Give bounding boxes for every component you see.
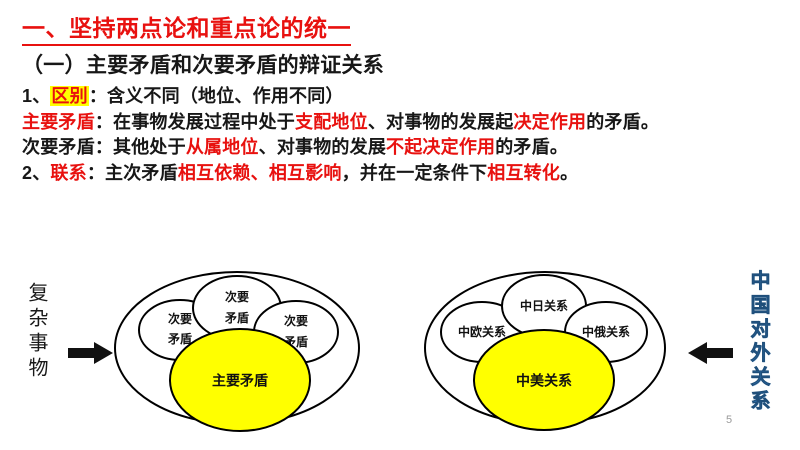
minor-ellipse-left-label-line1: 次要 (168, 311, 192, 326)
emphasis-mutual-dependence: 相互依赖、相互影响 (178, 163, 342, 183)
right-arrow-icon (68, 340, 114, 371)
minor-ellipse-top-label-line2: 矛盾 (224, 310, 249, 325)
line-4-seg-b: ，并在一定条件下 (342, 163, 488, 183)
list-number-1: 1、 (22, 86, 50, 106)
emphasis-subordinate-position: 从属地位 (186, 137, 259, 157)
body-line-1: 1、区别：含义不同（地位、作用不同） (22, 84, 792, 110)
minor-ellipse-china-russia-label: 中俄关系 (582, 324, 630, 339)
term-secondary-contradiction: 次要矛盾 (22, 137, 95, 157)
line-3-seg-a: ：其他处于 (95, 137, 186, 157)
list-number-2: 2、 (22, 163, 50, 183)
line-2-seg-a: ：在事物发展过程中处于 (95, 112, 295, 132)
body-line-4: 2、联系：主次矛盾相互依赖、相互影响，并在一定条件下相互转化。 (22, 161, 792, 187)
major-ellipse-china-us-label: 中美关系 (516, 373, 572, 389)
major-ellipse-primary-contradiction-label: 主要矛盾 (212, 373, 268, 389)
line-4-seg-c: 。 (560, 163, 578, 183)
minor-ellipse-china-japan-label: 中日关系 (520, 298, 568, 313)
emphasis-decisive-role: 决定作用 (513, 112, 586, 132)
minor-ellipse-right-label-line1: 次要 (284, 313, 308, 328)
minor-ellipse-china-eu-label: 中欧关系 (458, 324, 506, 339)
keyword-connection: 联系 (50, 163, 86, 183)
body-line-3: 次要矛盾：其他处于从属地位、对事物的发展不起决定作用的矛盾。 (22, 135, 792, 161)
label-complex-thing: 复杂事物 (26, 282, 46, 382)
page-number: 5 (726, 414, 732, 426)
diagram-primary-secondary-contradiction: 次要 矛盾 次要 矛盾 次要 矛盾 主要矛盾 (112, 262, 362, 432)
minor-ellipse-left-label-line2: 矛盾 (167, 331, 192, 346)
line-2-seg-c: 的矛盾。 (586, 112, 659, 132)
keyword-distinction: 区别 (50, 86, 88, 106)
subheading: （一）主要矛盾和次要矛盾的辩证关系 (22, 53, 792, 79)
line-2-seg-b: 、对事物的发展起 (368, 112, 514, 132)
line-3-seg-c: 的矛盾。 (495, 137, 568, 157)
emphasis-dominant-position: 支配地位 (295, 112, 368, 132)
line-1-rest: ：含义不同（地位、作用不同） (89, 86, 344, 106)
diagram-area: 复杂事物 次要 矛盾 次要 矛盾 次要 矛盾 主要矛盾 中欧关系 (0, 262, 800, 450)
slide-root: 一、坚持两点论和重点论的统一 （一）主要矛盾和次要矛盾的辩证关系 1、区别：含义… (0, 0, 800, 450)
page-title: 一、坚持两点论和重点论的统一 (22, 14, 351, 46)
label-china-foreign-relations: 中国对外关系 (748, 270, 768, 414)
body-line-2: 主要矛盾：在事物发展过程中处于支配地位、对事物的发展起决定作用的矛盾。 (22, 110, 792, 136)
minor-ellipse-top-label-line1: 次要 (225, 289, 249, 304)
text-content: 一、坚持两点论和重点论的统一 （一）主要矛盾和次要矛盾的辩证关系 1、区别：含义… (22, 14, 792, 186)
left-arrow-icon (688, 340, 734, 371)
emphasis-mutual-transformation: 相互转化 (487, 163, 560, 183)
diagram-china-foreign-relations: 中欧关系 中日关系 中俄关系 中美关系 (420, 262, 670, 432)
term-primary-contradiction: 主要矛盾 (22, 112, 95, 132)
line-3-seg-b: 、对事物的发展 (259, 137, 386, 157)
line-4-seg-a: ：主次矛盾 (87, 163, 178, 183)
emphasis-not-decisive-role: 不起决定作用 (386, 137, 495, 157)
